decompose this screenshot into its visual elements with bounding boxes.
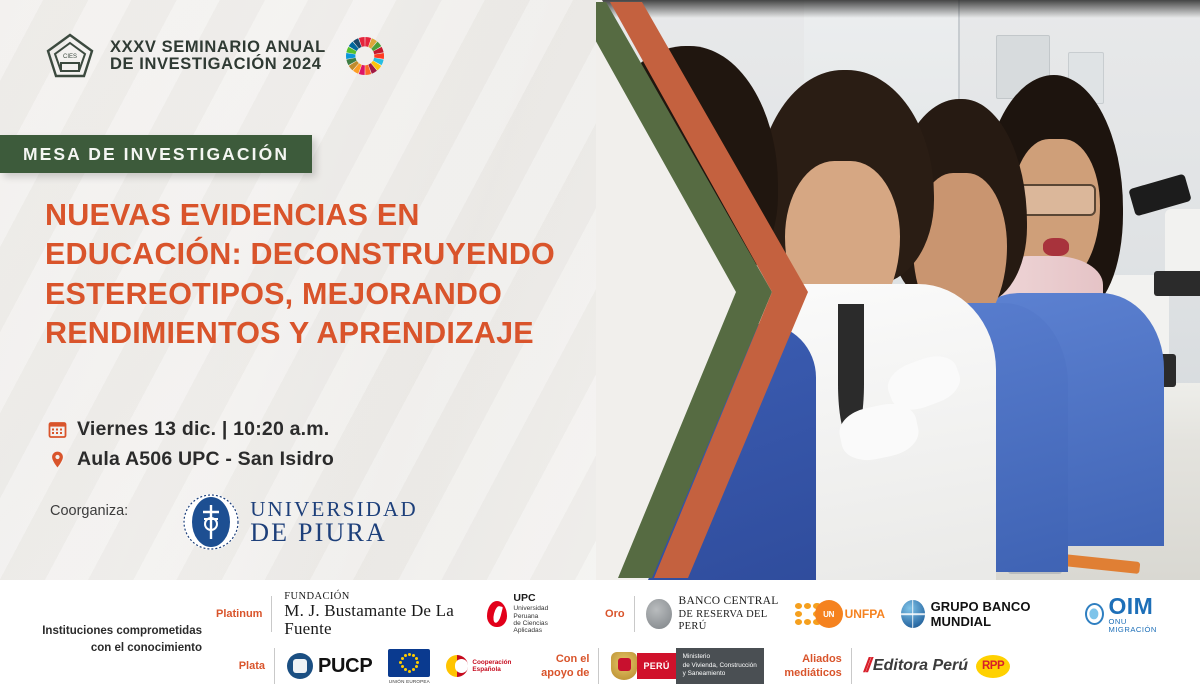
oim-mark-icon	[1085, 603, 1104, 625]
upc-flame-icon	[487, 601, 507, 627]
pucp-logo: PUCP	[287, 653, 372, 679]
sponsors-heading-line1: Instituciones comprometidas	[18, 623, 202, 640]
page-title: NUEVAS EVIDENCIAS EN EDUCACIÓN: DECONSTR…	[45, 196, 625, 353]
sponsors-bar: Instituciones comprometidas con el conoc…	[0, 580, 1200, 700]
calendar-icon	[48, 420, 67, 439]
badge-label: MESA DE INVESTIGACIÓN	[23, 144, 289, 165]
bcrp-seal-icon	[646, 599, 671, 629]
map-pin-icon	[48, 450, 67, 469]
event-location-text: Aula A506 UPC - San Isidro	[77, 448, 334, 471]
sponsors-heading-line2: con el conocimiento	[18, 640, 202, 657]
ministerio-line3: y Saneamiento	[683, 670, 757, 679]
upc-line2: Universidad Peruana	[513, 605, 567, 620]
event-date-text: Viernes 13 dic. | 10:20 a.m.	[77, 418, 329, 441]
seminar-logo-line2: DE INVESTIGACIÓN 2024	[110, 56, 326, 73]
aliados-mediaticos-caption: Aliados mediáticos	[780, 652, 842, 681]
mesa-de-investigacion-badge: MESA DE INVESTIGACIÓN	[0, 135, 312, 173]
pucp-mark-icon	[287, 653, 313, 679]
title-line-2: EDUCACIÓN: DECONSTRUYENDO	[45, 235, 625, 274]
coop-line2: Española	[472, 666, 511, 673]
con-el-apoyo-de-caption: Con el apoyo de	[527, 652, 589, 681]
sponsor-row-platinum: Platinum FUNDACIÓN M. J. Bustamante De L…	[216, 591, 1182, 637]
udep-seal-icon	[182, 493, 240, 551]
unfpa-label: UNFPA	[845, 607, 885, 621]
peru-escudo-icon	[611, 652, 637, 680]
fundacion-line2: M. J. Bustamante De La Fuente	[284, 602, 471, 638]
pucp-label: PUCP	[318, 655, 372, 678]
editora-peru-logo: // Editora Perú RPP	[864, 655, 1010, 678]
upc-logo: UPC Universidad Peruana de Ciencias Apli…	[487, 593, 567, 634]
seminar-logo: CIES XXXV SEMINARIO ANUAL DE INVESTIGACI…	[44, 30, 386, 82]
ministerio-line2: de Vivienda, Construcción	[683, 662, 757, 671]
gbm-label: GRUPO BANCO MUNDIAL	[931, 599, 1069, 629]
upc-line3: de Ciencias Aplicadas	[513, 620, 567, 635]
aliados-line2: mediáticos	[780, 666, 842, 680]
unfpa-logo: UN UNFPA	[795, 600, 885, 628]
chevron-divider	[596, 0, 846, 580]
cies-pentagon-logo: CIES	[44, 30, 96, 82]
upc-line1: UPC	[513, 593, 567, 605]
globe-icon	[901, 600, 925, 628]
bcrp-line1: BANCO CENTRAL	[679, 595, 779, 608]
union-europea-flag: UNIÓN EUROPEA	[388, 649, 430, 684]
editora-label: Editora Perú	[873, 657, 968, 675]
title-line-4: RENDIMIENTOS Y APRENDIZAJE	[45, 314, 625, 353]
sdg-color-wheel-icon	[344, 35, 386, 77]
bcrp-logo: BANCO CENTRAL DE RESERVA DEL PERÚ	[646, 595, 778, 632]
rpp-label: RPP	[982, 660, 1004, 672]
eu-caption: UNIÓN EUROPEA	[388, 679, 430, 684]
tier-label-platinum: Platinum	[216, 608, 271, 620]
apoyo-line1: Con el	[527, 652, 589, 666]
coorganizer-label: Coorganiza:	[50, 503, 128, 519]
cooperacion-mark-icon	[446, 655, 468, 677]
tier-label-plata: Plata	[216, 660, 274, 672]
editora-slash-icon: //	[864, 655, 869, 678]
event-details: Viernes 13 dic. | 10:20 a.m. Aula A506 U…	[48, 418, 334, 478]
oim-line2: ONU MIGRACIÓN	[1109, 618, 1166, 633]
cooperacion-espanola-logo: Cooperación Española	[446, 655, 511, 677]
event-banner: CIES XXXV SEMINARIO ANUAL DE INVESTIGACI…	[0, 0, 1200, 700]
udep-name-line1: UNIVERSIDAD	[250, 499, 418, 520]
udep-name-line2: DE PIURA	[250, 520, 418, 546]
sponsor-row-plata: Plata PUCP UNIÓN EUROPEA Cooperación	[216, 643, 1182, 689]
fundacion-bustamante-logo: FUNDACIÓN M. J. Bustamante De La Fuente	[284, 591, 471, 638]
title-line-3: ESTEREOTIPOS, MEJORANDO	[45, 275, 625, 314]
seminar-logo-line1: XXXV SEMINARIO ANUAL	[110, 39, 326, 56]
aliados-line1: Aliados	[780, 652, 842, 666]
coop-line1: Cooperación	[472, 659, 511, 666]
universidad-de-piura-logo: UNIVERSIDAD DE PIURA	[182, 493, 418, 551]
ministerio-text: Ministerio de Vivienda, Construcción y S…	[676, 648, 764, 684]
rpp-logo: RPP	[976, 655, 1010, 678]
event-date-row: Viernes 13 dic. | 10:20 a.m.	[48, 418, 334, 441]
apoyo-line2: apoyo de	[527, 666, 589, 680]
peru-ministerio-vivienda-logo: PERÚ Ministerio de Vivienda, Construcció…	[611, 648, 763, 684]
oim-logo: OIM ONU MIGRACIÓN	[1085, 595, 1166, 633]
grupo-banco-mundial-logo: GRUPO BANCO MUNDIAL	[901, 599, 1069, 629]
unfpa-circle-icon: UN	[815, 600, 843, 628]
event-location-row: Aula A506 UPC - San Isidro	[48, 448, 334, 471]
ministerio-line1: Ministerio	[683, 653, 757, 662]
oim-line1: OIM	[1109, 595, 1166, 618]
tier-label-oro: Oro	[583, 608, 633, 620]
svg-text:CIES: CIES	[63, 54, 77, 60]
peru-label: PERÚ	[637, 653, 675, 679]
sponsors-heading: Instituciones comprometidas con el conoc…	[18, 623, 216, 656]
coorganizer-block: Coorganiza: UNIVERSIDAD DE PIURA	[50, 495, 418, 551]
title-line-1: NUEVAS EVIDENCIAS EN	[45, 196, 625, 235]
bcrp-line2: DE RESERVA DEL PERÚ	[679, 609, 779, 633]
eu-flag-icon	[388, 649, 430, 677]
